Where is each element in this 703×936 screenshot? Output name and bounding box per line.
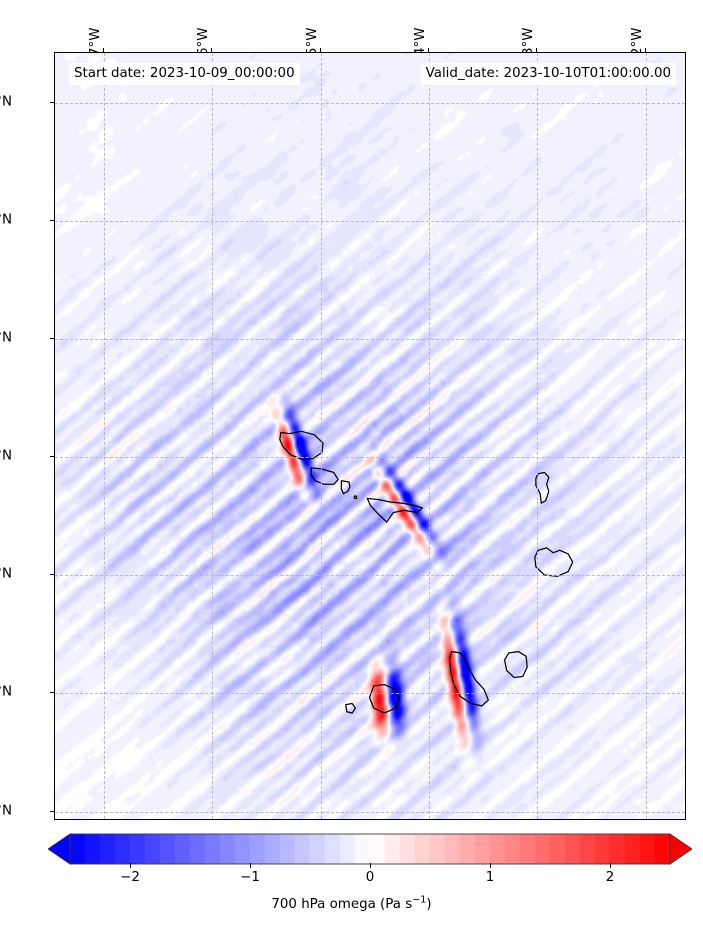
colorbar-band (535, 834, 551, 864)
colorbar-band (565, 834, 581, 864)
colorbar-band (160, 834, 176, 864)
colorbar-band (310, 834, 326, 864)
colorbar-band (295, 834, 311, 864)
colorbar-band (85, 834, 101, 864)
colorbar-band (280, 834, 296, 864)
colorbar-band (385, 834, 401, 864)
gridline-parallel (55, 575, 685, 576)
gridline-parallel (55, 221, 685, 222)
colorbar-band (445, 834, 461, 864)
map-axes[interactable]: Start date: 2023-10-09_00:00:00 Valid_da… (54, 52, 686, 820)
colorbar-tick-label: 2 (606, 870, 615, 885)
colorbar-band (250, 834, 266, 864)
colorbar-band (100, 834, 116, 864)
omega-heatmap-field (55, 53, 685, 819)
colorbar-tickmark (490, 863, 491, 868)
gridline-parallel (55, 693, 685, 694)
colorbar-band (130, 834, 146, 864)
omega-field-raster (55, 53, 685, 819)
gridline-meridian (537, 53, 538, 819)
x-tick-26°W: 26°W (201, 0, 221, 46)
colorbar-band (325, 834, 341, 864)
colorbar-tick-label: 1 (486, 870, 495, 885)
colorbar-band (340, 834, 356, 864)
start-date-annotation: Start date: 2023-10-09_00:00:00 (69, 63, 300, 85)
colorbar-band (430, 834, 446, 864)
y-tick-20°N: 20°N (0, 94, 12, 109)
colorbar-band (370, 834, 386, 864)
colorbar-band (520, 834, 536, 864)
colorbar-tickmark (610, 863, 611, 868)
colorbar-band (475, 834, 491, 864)
gridline-parallel (55, 812, 685, 813)
colorbar-band (265, 834, 281, 864)
y-tick-18°N: 18°N (0, 330, 12, 345)
valid-date-annotation: Valid_date: 2023-10-10T01:00:00.00 (421, 63, 676, 85)
colorbar-tickmark (250, 863, 251, 868)
colorbar-title: 700 hPa omega (Pa s−1) (0, 897, 703, 912)
colorbar-band (505, 834, 521, 864)
colorbar-band (400, 834, 416, 864)
colorbar-band (70, 834, 86, 864)
colorbar-band (640, 834, 656, 864)
colorbar-band (655, 834, 671, 864)
colorbar-band (625, 834, 641, 864)
x-tick-25°W: 25°W (310, 0, 330, 46)
colorbar-band (595, 834, 611, 864)
x-tick-24°W: 24°W (418, 0, 438, 46)
colorbar-band (580, 834, 596, 864)
colorbar-band (235, 834, 251, 864)
colorbar-band (205, 834, 221, 864)
colorbar-band (115, 834, 131, 864)
y-tick-16°N: 16°N (0, 567, 12, 582)
x-tick-23°W: 23°W (526, 0, 546, 46)
colorbar-band (175, 834, 191, 864)
gridline-meridian (104, 53, 105, 819)
colorbar-band (550, 834, 566, 864)
y-tick-17°N: 17°N (0, 449, 12, 464)
gridline-meridian (212, 53, 213, 819)
colorbar-tick-label: −2 (120, 870, 140, 885)
colorbar-extend-low (48, 834, 70, 864)
colorbar[interactable]: −2−1012 (70, 833, 670, 863)
x-tick-22°W: 22°W (635, 0, 655, 46)
colorbar-tick-label: −1 (240, 870, 260, 885)
colorbar-title-main: 700 hPa omega (Pa s (271, 897, 412, 912)
gridline-parallel (55, 103, 685, 104)
gridline-parallel (55, 457, 685, 458)
colorbar-extend-high (670, 834, 692, 864)
colorbar-band (610, 834, 626, 864)
colorbar-tickmark (130, 863, 131, 868)
colorbar-title-tail: ) (426, 897, 431, 912)
x-tick-27°W: 27°W (93, 0, 113, 46)
colorbar-band (190, 834, 206, 864)
colorbar-tickmark (370, 863, 371, 868)
omega-map-figure: 14°N15°N16°N17°N18°N19°N20°N 27°W26°W25°… (0, 0, 703, 936)
colorbar-band (355, 834, 371, 864)
gridline-meridian (429, 53, 430, 819)
y-tick-14°N: 14°N (0, 803, 12, 818)
colorbar-band (490, 834, 506, 864)
colorbar-title-exponent: −1 (412, 895, 426, 906)
y-tick-15°N: 15°N (0, 685, 12, 700)
colorbar-band (145, 834, 161, 864)
gridline-meridian (321, 53, 322, 819)
colorbar-band (415, 834, 431, 864)
colorbar-band (460, 834, 476, 864)
colorbar-svg (48, 833, 692, 865)
colorbar-gradient (70, 833, 670, 865)
colorbar-tick-label: 0 (366, 870, 375, 885)
y-tick-19°N: 19°N (0, 212, 12, 227)
colorbar-band (220, 834, 236, 864)
gridline-meridian (646, 53, 647, 819)
gridline-parallel (55, 339, 685, 340)
